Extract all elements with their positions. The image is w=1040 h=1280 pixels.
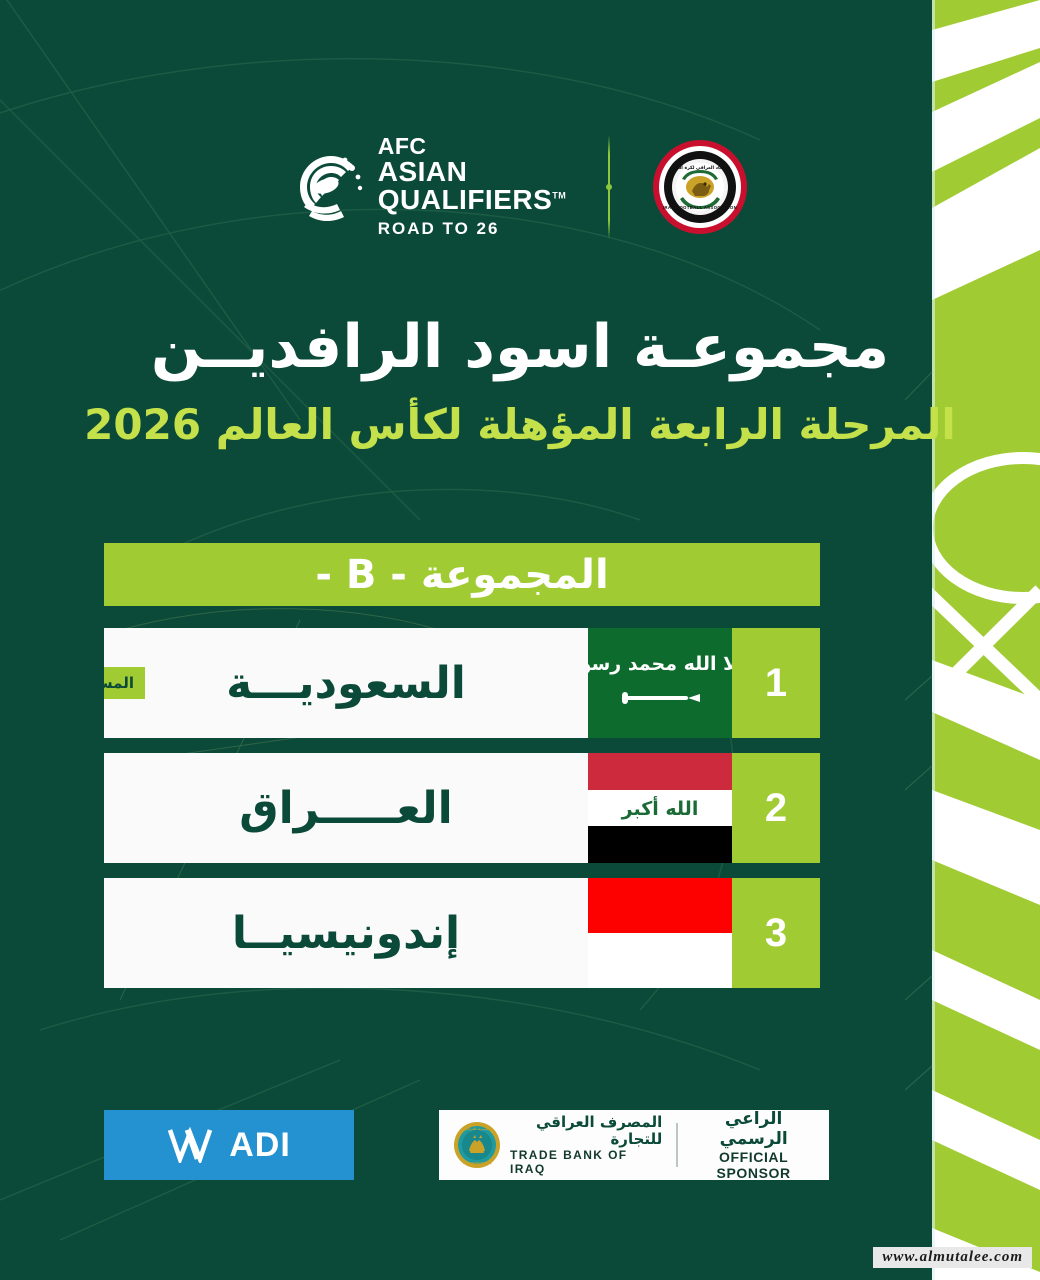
svg-text:الاتحاد العراقي لكرة القدم: الاتحاد العراقي لكرة القدم [671, 165, 731, 171]
iraq-flag-icon: الله أكبر [588, 753, 732, 863]
poster-root: AFC ASIAN QUALIFIERSTM ROAD TO 26 الا [0, 0, 1040, 1280]
group-table: المجموعة - B - المستضيف السعوديـــة لا إ… [104, 543, 820, 988]
wadi-label: ADI [229, 1126, 291, 1165]
afc-trademark: TM [552, 191, 566, 201]
afc-line-3: QUALIFIERSTM [378, 186, 567, 214]
afc-wordmark: AFC ASIAN QUALIFIERSTM ROAD TO 26 [378, 135, 567, 239]
page-title: مجموعـة اسود الرافديــن [0, 312, 1040, 382]
svg-text:IRAQ FOOTBALL ASSOCIATION: IRAQ FOOTBALL ASSOCIATION [663, 205, 737, 210]
afc-line-4: ROAD TO 26 [378, 219, 567, 239]
svg-text:المصرف العراقي: المصرف العراقي [464, 1127, 489, 1131]
iraq-football-association-crest-icon: الاتحاد العراقي لكرة القدم IRAQ FOOTBALL… [652, 139, 748, 235]
afc-swirl-icon [292, 148, 366, 226]
svg-text:TRADE BANK OF IRAQ: TRADE BANK OF IRAQ [463, 1161, 492, 1165]
group-rows-list: المستضيف السعوديـــة لا إله إلا الله محم… [104, 628, 820, 988]
official-sponsor-text: الراعي الرسمي OFFICIAL SPONSOR [692, 1109, 815, 1182]
trade-bank-of-iraq-wordmark: المصرف العراقي للتجارة TRADE BANK OF IRA… [510, 1114, 662, 1177]
wadi-w-mark-icon [167, 1127, 229, 1163]
official-sponsor-banner[interactable]: المصرف العراقي TRADE BANK OF IRAQ المصرف… [439, 1110, 829, 1180]
team-flag-cell [588, 878, 732, 988]
team-name-label: إندونيسيــا [232, 908, 460, 959]
svg-text:الله أكبر: الله أكبر [621, 796, 699, 820]
sponsor-divider [676, 1123, 678, 1167]
team-name-label: السعوديـــة [226, 658, 466, 709]
table-row[interactable]: العـــــراق الله أكبر 2 [104, 753, 820, 863]
table-row[interactable]: المستضيف السعوديـــة لا إله إلا الله محم… [104, 628, 820, 738]
header-divider-wrap [566, 128, 652, 246]
afc-line-3-text: QUALIFIERS [378, 184, 553, 215]
wadi-wordmark: ADI [167, 1126, 291, 1165]
svg-text:لا إله إلا الله محمد رسول الله: لا إله إلا الله محمد رسول الله [588, 653, 732, 675]
indonesia-flag-icon [588, 878, 732, 988]
header-logos: AFC ASIAN QUALIFIERSTM ROAD TO 26 الا [0, 128, 1040, 246]
trade-bank-of-iraq-crest-icon: المصرف العراقي TRADE BANK OF IRAQ [453, 1121, 501, 1169]
team-rank-cell: 3 [732, 878, 820, 988]
table-row[interactable]: إندونيسيــا 3 [104, 878, 820, 988]
vertical-divider-icon [608, 135, 610, 239]
team-flag-cell: لا إله إلا الله محمد رسول الله [588, 628, 732, 738]
afc-line-1: AFC [378, 135, 567, 158]
team-flag-cell: الله أكبر [588, 753, 732, 863]
saudi-arabia-flag-icon: لا إله إلا الله محمد رسول الله [588, 628, 732, 738]
site-watermark: www.almutalee.com [873, 1247, 1032, 1268]
team-name-label: العـــــراق [239, 783, 452, 834]
tbi-english-label: TRADE BANK OF IRAQ [510, 1148, 662, 1176]
team-rank-cell: 1 [732, 628, 820, 738]
tbi-arabic-label: المصرف العراقي للتجارة [510, 1114, 662, 1149]
sponsor-english-label: OFFICIAL SPONSOR [692, 1149, 815, 1181]
group-header-label: المجموعة - B - [104, 543, 820, 606]
team-name-cell: إندونيسيــا [104, 878, 588, 988]
afc-line-2: ASIAN [378, 158, 567, 186]
team-name-cell: العـــــراق [104, 753, 588, 863]
host-badge: المستضيف [104, 667, 145, 699]
page-subtitle: المرحلة الرابعة المؤهلة لكأس العالم 2026 [0, 400, 1040, 449]
afc-asian-qualifiers-logo: AFC ASIAN QUALIFIERSTM ROAD TO 26 [292, 135, 567, 239]
team-name-cell: المستضيف السعوديـــة [104, 628, 588, 738]
sponsor-arabic-label: الراعي الرسمي [692, 1109, 815, 1150]
wadi-sponsor-logo[interactable]: ADI [104, 1110, 354, 1180]
team-rank-cell: 2 [732, 753, 820, 863]
